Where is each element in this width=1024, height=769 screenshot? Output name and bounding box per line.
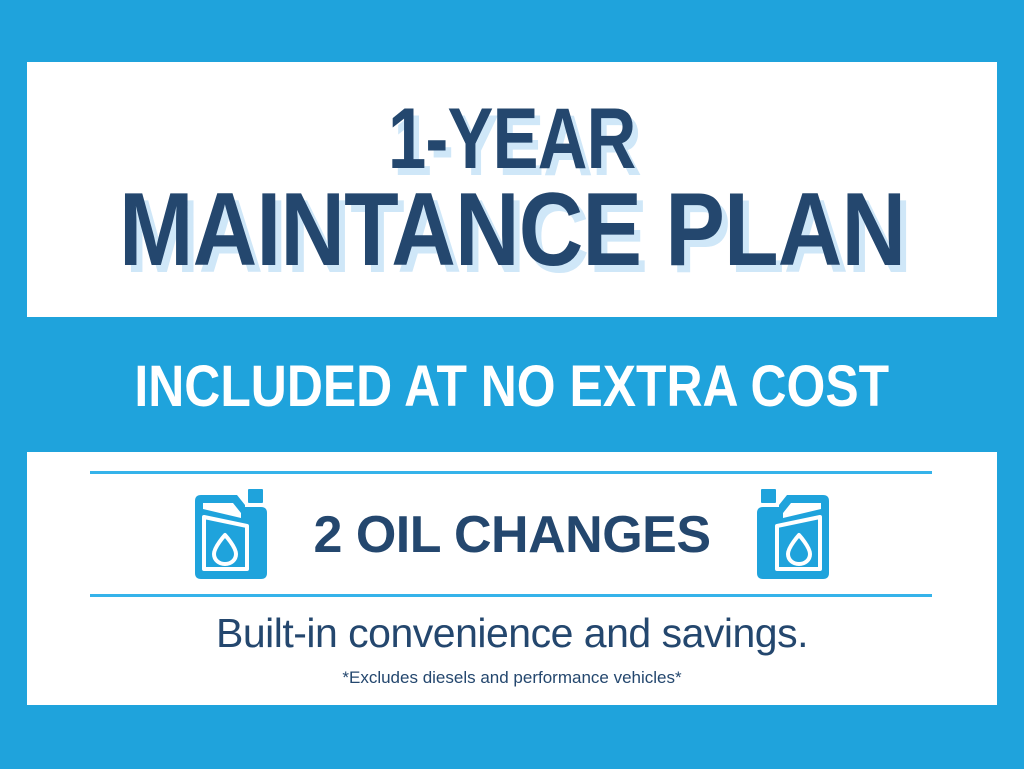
divider-top	[90, 471, 932, 474]
promotional-poster: 1-YEAR MAINTANCE PLAN INCLUDED AT NO EXT…	[0, 0, 1024, 769]
feature-label: 2 OIL CHANGES	[313, 505, 710, 565]
headline-card: 1-YEAR MAINTANCE PLAN	[27, 62, 997, 317]
divider-bottom	[90, 594, 932, 597]
headline-line-2: MAINTANCE PLAN	[119, 183, 905, 279]
subheadline-text: INCLUDED AT NO EXTRA COST	[135, 353, 890, 420]
tagline-text: Built-in convenience and savings.	[27, 610, 997, 657]
oil-can-icon-left	[189, 487, 269, 583]
headline-line-1: 1-YEAR	[388, 100, 636, 179]
oil-can-icon-right	[755, 487, 835, 583]
subheadline-band: INCLUDED AT NO EXTRA COST	[27, 330, 997, 442]
details-card: 2 OIL CHANGES Built-in convenience and s…	[27, 452, 997, 705]
disclaimer-text: *Excludes diesels and performance vehicl…	[27, 668, 997, 688]
feature-row: 2 OIL CHANGES	[27, 478, 997, 592]
